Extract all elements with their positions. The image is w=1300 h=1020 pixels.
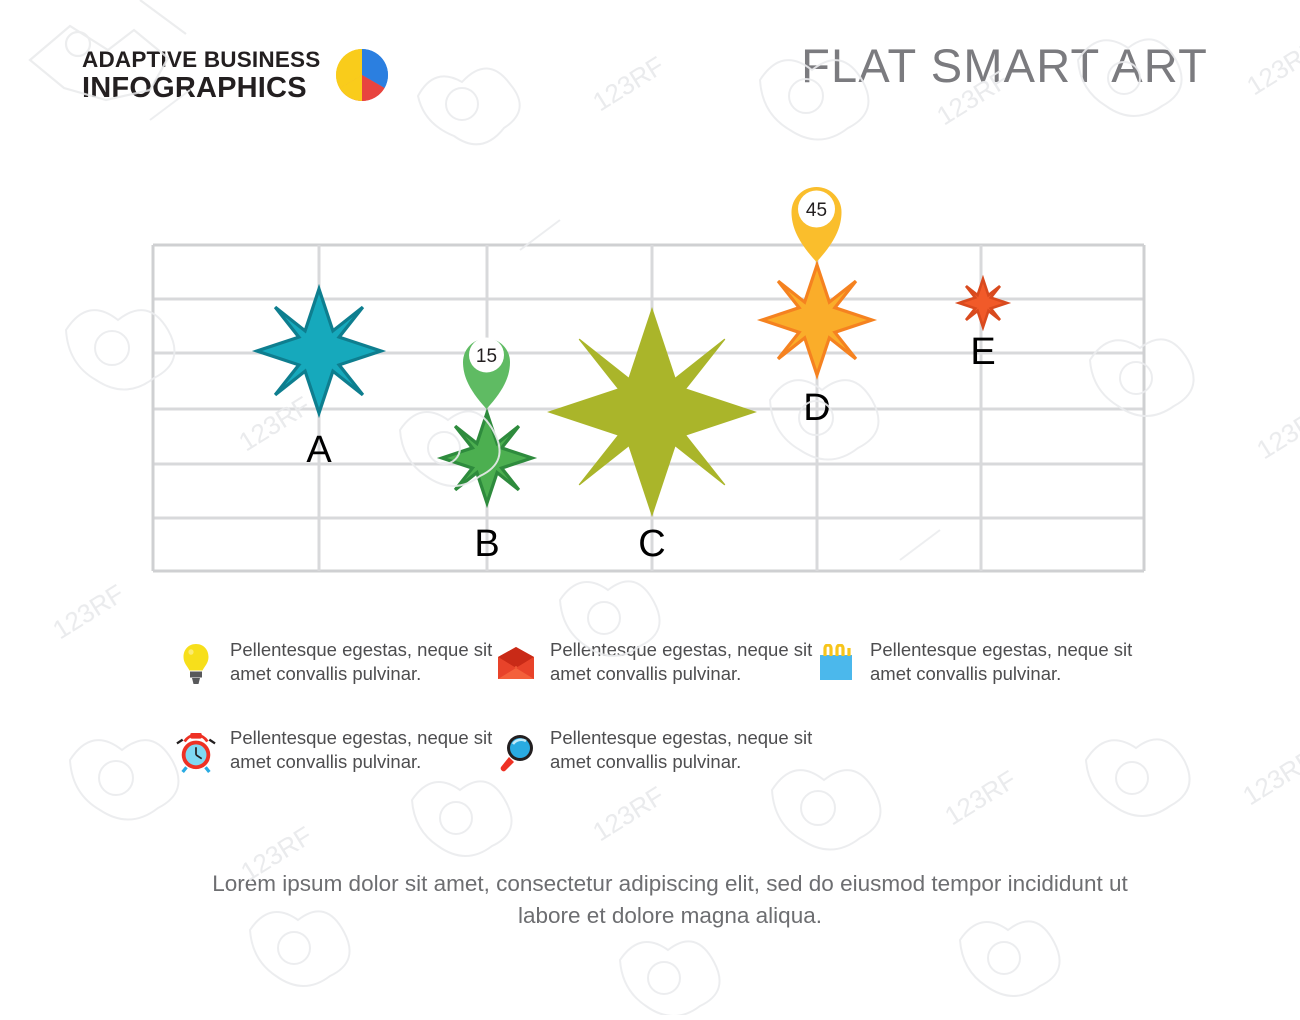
star-marker-e xyxy=(959,279,1007,327)
data-label-a: A xyxy=(306,429,332,471)
magnifier-icon xyxy=(496,724,536,780)
star-scatter-chart: A 15 B C xyxy=(0,0,1300,620)
svg-text:123RF: 123RF xyxy=(587,780,669,847)
data-point-e[interactable]: E xyxy=(959,279,1007,373)
callout-pin-d[interactable]: 45 xyxy=(792,187,842,262)
data-point-b[interactable]: 15 B xyxy=(442,338,532,566)
lightbulb-icon xyxy=(176,636,216,692)
legend-item-5[interactable]: Pellentesque egestas, neque sit amet con… xyxy=(496,724,816,780)
legend-text: Pellentesque egestas, neque sit amet con… xyxy=(550,636,816,687)
legend-row: Pellentesque egestas, neque sit amet con… xyxy=(176,724,1136,780)
callout-value-d: 45 xyxy=(806,200,827,221)
data-point-a[interactable]: A xyxy=(257,289,381,471)
legend-item-2[interactable]: Pellentesque egestas, neque sit amet con… xyxy=(496,636,816,692)
legend-item-1[interactable]: Pellentesque egestas, neque sit amet con… xyxy=(176,636,496,692)
star-marker-d xyxy=(762,265,872,375)
data-point-d[interactable]: 45 D xyxy=(762,187,872,429)
callout-value-b: 15 xyxy=(476,346,497,367)
data-label-e: E xyxy=(970,331,995,373)
legend-text: Pellentesque egestas, neque sit amet con… xyxy=(230,636,496,687)
legend: Pellentesque egestas, neque sit amet con… xyxy=(176,636,1136,780)
legend-item-3[interactable]: Pellentesque egestas, neque sit amet con… xyxy=(816,636,1136,692)
legend-text: Pellentesque egestas, neque sit amet con… xyxy=(230,724,496,775)
footer-caption: Lorem ipsum dolor sit amet, consectetur … xyxy=(190,868,1150,932)
star-marker-c xyxy=(549,309,755,515)
data-label-c: C xyxy=(638,523,665,565)
star-marker-a xyxy=(257,289,381,413)
legend-text: Pellentesque egestas, neque sit amet con… xyxy=(550,724,816,775)
svg-text:123RF: 123RF xyxy=(1237,744,1300,811)
callout-pin-b[interactable]: 15 xyxy=(463,338,510,410)
legend-item-4[interactable]: Pellentesque egestas, neque sit amet con… xyxy=(176,724,496,780)
legend-row: Pellentesque egestas, neque sit amet con… xyxy=(176,636,1136,692)
alarm-clock-icon xyxy=(176,724,216,780)
calendar-icon xyxy=(816,636,856,692)
legend-item-spacer xyxy=(816,724,1136,780)
data-label-b: B xyxy=(474,523,499,565)
data-label-d: D xyxy=(803,387,830,429)
envelope-icon xyxy=(496,636,536,692)
legend-text: Pellentesque egestas, neque sit amet con… xyxy=(870,636,1136,687)
star-marker-b xyxy=(442,413,532,503)
data-point-c[interactable]: C xyxy=(549,309,755,565)
